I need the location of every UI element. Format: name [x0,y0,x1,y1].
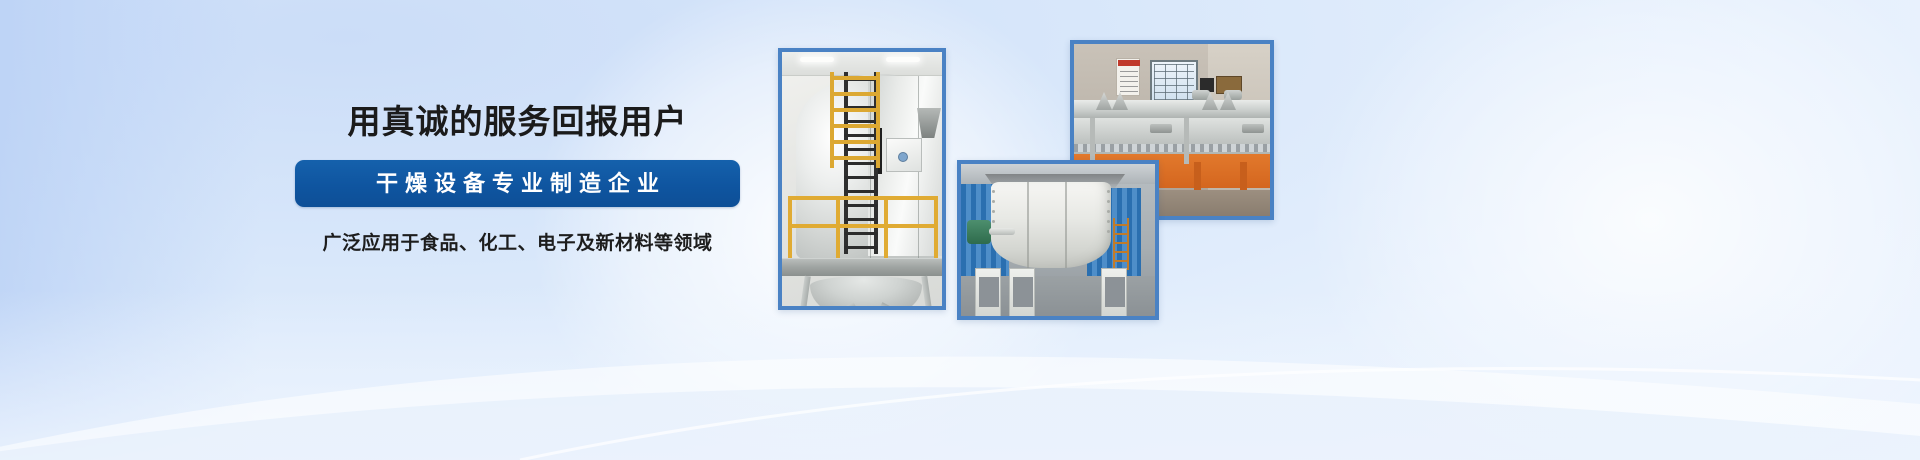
banner-headline: 用真诚的服务回报用户 [295,104,740,140]
photo-ribbon-mixer-image [961,164,1155,316]
photo-spray-dryer-image [782,52,942,306]
banner-text-block: 用真诚的服务回报用户 干燥设备专业制造企业 广泛应用于食品、化工、电子及新材料等… [295,104,740,255]
banner-badge: 干燥设备专业制造企业 [295,160,740,207]
background-left-edge-gradient [0,0,260,460]
banner-subtitle: 广泛应用于食品、化工、电子及新材料等领域 [295,228,740,255]
photo-card-spray-dryer [778,48,946,310]
background-right-glow [1200,0,1920,460]
photo-card-ribbon-mixer [957,160,1159,320]
promo-banner: 用真诚的服务回报用户 干燥设备专业制造企业 广泛应用于食品、化工、电子及新材料等… [0,0,1920,460]
